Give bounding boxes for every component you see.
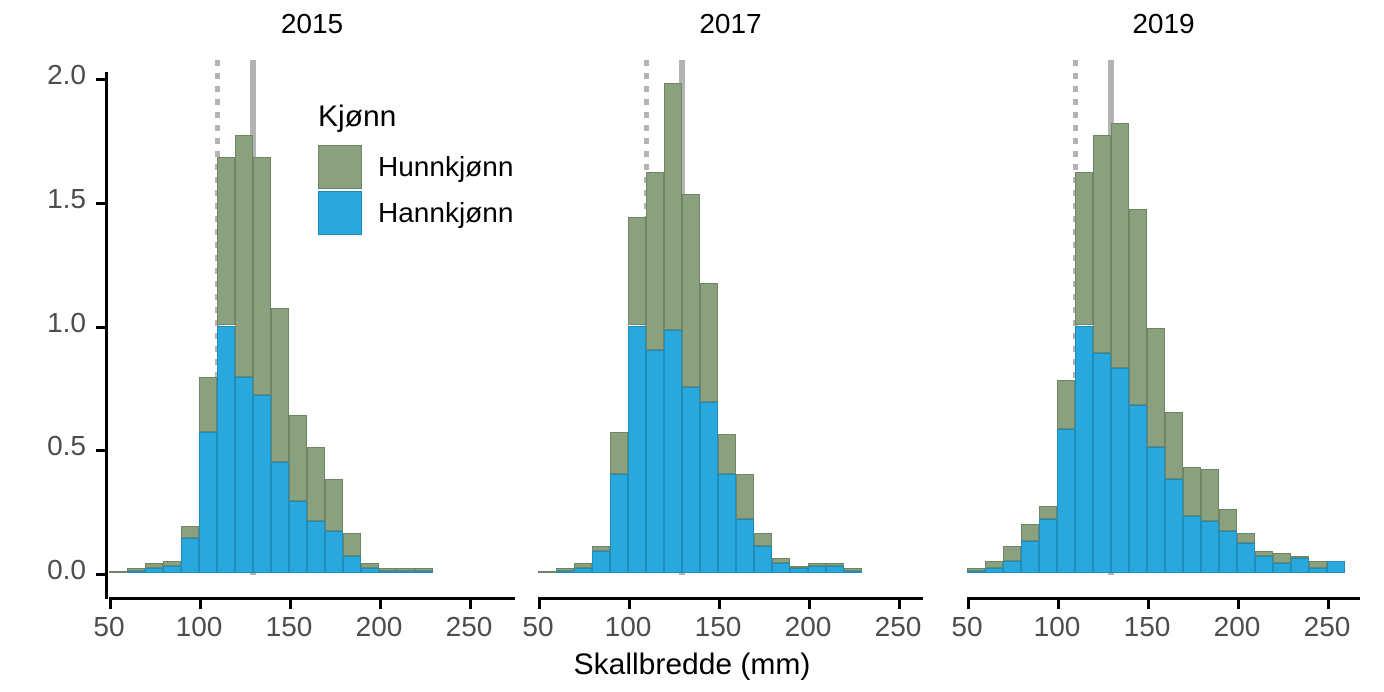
bar-male-2019-235 [1291, 558, 1309, 573]
bar-male-2017-215 [826, 566, 844, 573]
bar-male-2019-185 [1201, 521, 1219, 573]
bar-female-2017-125 [664, 83, 682, 331]
bar-female-2017-215 [826, 563, 844, 565]
bar-female-2015-135 [253, 157, 271, 395]
bar-male-2015-215 [397, 571, 415, 573]
panel-title-2015: 2015 [109, 8, 515, 40]
bar-female-2017-165 [736, 474, 754, 519]
bar-female-2017-145 [700, 283, 718, 402]
x-tick-2019-100 [1057, 600, 1060, 609]
bar-female-2015-125 [235, 135, 253, 378]
y-tick-1.5 [96, 202, 105, 205]
plot-area-2017 [538, 60, 923, 575]
bar-male-2017-195 [790, 568, 808, 573]
legend-items: HunnkjønnHannkjønn [318, 144, 513, 236]
x-axis-line-2017 [538, 597, 923, 600]
x-tick-label-2015-50: 50 [64, 611, 154, 643]
legend-item-male[interactable]: Hannkjønn [318, 190, 513, 236]
y-tick-0.5 [96, 449, 105, 452]
bar-male-2017-145 [700, 402, 718, 573]
legend-label-male: Hannkjønn [378, 197, 513, 229]
bar-male-2019-75 [1003, 561, 1021, 573]
bar-male-2015-85 [163, 566, 181, 573]
bar-male-2019-85 [1021, 541, 1039, 573]
bar-male-2015-105 [199, 432, 217, 573]
bar-female-2015-185 [343, 533, 361, 555]
bar-female-2015-195 [361, 563, 379, 568]
bar-male-2017-105 [628, 326, 646, 574]
x-tick-2019-150 [1147, 600, 1150, 609]
bar-male-2019-95 [1039, 519, 1057, 573]
bar-female-2019-235 [1291, 556, 1309, 558]
bar-male-2017-75 [574, 568, 592, 573]
bar-female-2017-85 [592, 546, 610, 551]
x-tick-2017-200 [808, 600, 811, 609]
x-axis-line-2015 [109, 597, 515, 600]
panel-2017: 201750100150200250 [538, 60, 923, 575]
bar-male-2017-205 [808, 566, 826, 573]
bar-male-2019-175 [1183, 516, 1201, 573]
bar-male-2015-135 [253, 395, 271, 573]
bar-female-2017-55 [538, 571, 556, 573]
legend-swatch-female-icon [318, 145, 362, 189]
bar-female-2015-155 [289, 415, 307, 502]
bar-female-2019-55 [967, 568, 985, 570]
bar-female-2015-75 [145, 563, 163, 568]
y-tick-2.0 [96, 78, 105, 81]
bar-male-2015-205 [379, 571, 397, 573]
bar-male-2019-125 [1093, 353, 1111, 573]
x-tick-label-2019-200: 200 [1192, 611, 1282, 643]
x-tick-2019-250 [1327, 600, 1330, 609]
bar-male-2019-165 [1165, 479, 1183, 573]
bar-male-2019-255 [1327, 561, 1345, 573]
x-tick-label-2015-100: 100 [154, 611, 244, 643]
x-tick-label-2015-200: 200 [334, 611, 424, 643]
bar-male-2015-185 [343, 556, 361, 573]
bar-female-2019-105 [1057, 380, 1075, 430]
bar-female-2015-95 [181, 526, 199, 538]
x-tick-label-2019-100: 100 [1012, 611, 1102, 643]
x-tick-label-2019-50: 50 [922, 611, 1012, 643]
bar-female-2019-195 [1219, 509, 1237, 531]
x-axis-line-2019 [967, 597, 1360, 600]
bar-female-2015-215 [397, 568, 415, 570]
bar-male-2015-155 [289, 501, 307, 573]
bar-male-2017-185 [772, 563, 790, 573]
x-tick-label-2019-250: 250 [1282, 611, 1372, 643]
bar-male-2017-115 [646, 350, 664, 573]
bar-male-2017-85 [592, 551, 610, 573]
bar-male-2019-115 [1075, 326, 1093, 574]
y-tick-label-0.5: 0.5 [0, 430, 86, 462]
legend-title: Kjønn [318, 100, 513, 134]
x-tick-label-2019-150: 150 [1102, 611, 1192, 643]
bar-female-2019-175 [1183, 467, 1201, 517]
legend-item-female[interactable]: Hunnkjønn [318, 144, 513, 190]
bar-male-2015-95 [181, 538, 199, 573]
bar-female-2017-65 [556, 568, 574, 570]
bar-male-2019-105 [1057, 429, 1075, 573]
x-tick-2015-100 [199, 600, 202, 609]
x-tick-2015-150 [289, 600, 292, 609]
bar-male-2017-225 [844, 571, 862, 573]
bar-female-2019-75 [1003, 546, 1021, 561]
bar-male-2015-145 [271, 462, 289, 573]
bar-female-2019-145 [1129, 209, 1147, 405]
x-tick-label-2017-50: 50 [493, 611, 583, 643]
bar-female-2017-115 [646, 172, 664, 350]
x-tick-label-2017-150: 150 [673, 611, 763, 643]
x-tick-2015-250 [469, 600, 472, 609]
bar-female-2019-135 [1111, 123, 1129, 368]
x-tick-2017-100 [628, 600, 631, 609]
x-tick-2019-200 [1237, 600, 1240, 609]
plot-area-2019 [967, 60, 1360, 575]
y-tick-label-1.0: 1.0 [0, 307, 86, 339]
bar-male-2015-125 [235, 377, 253, 573]
y-axis-line [105, 72, 108, 599]
bar-male-2019-195 [1219, 531, 1237, 573]
panel-title-2017: 2017 [538, 8, 923, 40]
bar-female-2017-205 [808, 563, 826, 565]
bar-female-2017-105 [628, 217, 646, 326]
bar-female-2015-175 [325, 479, 343, 531]
bar-female-2015-225 [415, 568, 433, 570]
bar-male-2017-155 [718, 474, 736, 573]
bar-male-2019-155 [1147, 447, 1165, 573]
bar-female-2017-135 [682, 194, 700, 387]
bar-male-2019-145 [1129, 405, 1147, 573]
bar-female-2017-155 [718, 434, 736, 474]
bar-male-2017-135 [682, 387, 700, 573]
bar-female-2015-145 [271, 308, 289, 461]
bar-female-2015-115 [217, 157, 235, 325]
bar-male-2015-225 [415, 571, 433, 573]
bar-male-2019-225 [1273, 563, 1291, 573]
chart-root: Andel i fangst (%) Skallbredde (mm) 2015… [0, 0, 1384, 692]
bar-female-2017-195 [790, 566, 808, 568]
legend-swatch-male-icon [318, 191, 362, 235]
bar-female-2019-165 [1165, 412, 1183, 479]
y-tick-0.0 [96, 573, 105, 576]
bar-female-2019-185 [1201, 469, 1219, 521]
x-tick-label-2017-200: 200 [763, 611, 853, 643]
bar-female-2017-75 [574, 563, 592, 568]
x-tick-label-2015-150: 150 [244, 611, 334, 643]
bar-male-2015-195 [361, 568, 379, 573]
bar-female-2017-95 [610, 432, 628, 474]
bar-female-2015-65 [127, 568, 145, 570]
bar-female-2019-85 [1021, 524, 1039, 541]
bar-female-2019-215 [1255, 551, 1273, 556]
bar-female-2017-185 [772, 558, 790, 563]
bar-female-2015-205 [379, 568, 397, 570]
bar-female-2019-155 [1147, 328, 1165, 447]
bar-male-2019-205 [1237, 543, 1255, 573]
y-tick-label-1.5: 1.5 [0, 183, 86, 215]
bar-female-2019-95 [1039, 506, 1057, 518]
bar-male-2017-95 [610, 474, 628, 573]
legend: Kjønn HunnkjønnHannkjønn [318, 100, 513, 236]
legend-label-female: Hunnkjønn [378, 151, 513, 183]
x-tick-2019-50 [967, 600, 970, 609]
bar-male-2019-55 [967, 571, 985, 573]
bar-female-2019-225 [1273, 553, 1291, 563]
bar-male-2019-135 [1111, 368, 1129, 573]
bar-male-2015-165 [307, 521, 325, 573]
bar-male-2017-125 [664, 330, 682, 573]
bar-male-2019-245 [1309, 568, 1327, 573]
bar-female-2019-205 [1237, 533, 1255, 543]
bar-female-2019-115 [1075, 172, 1093, 325]
bar-female-2017-225 [844, 568, 862, 570]
bar-male-2017-165 [736, 519, 754, 573]
bar-female-2019-245 [1309, 561, 1327, 568]
bar-male-2017-175 [754, 546, 772, 573]
bar-female-2019-65 [985, 561, 1003, 568]
bar-female-2015-105 [199, 377, 217, 431]
x-tick-2015-200 [379, 600, 382, 609]
bar-female-2017-175 [754, 533, 772, 545]
y-tick-label-0.0: 0.0 [0, 554, 86, 586]
x-axis-title: Skallbredde (mm) [0, 648, 1384, 682]
x-tick-2015-50 [109, 600, 112, 609]
bar-male-2015-175 [325, 531, 343, 573]
x-tick-2017-150 [718, 600, 721, 609]
y-tick-1.0 [96, 326, 105, 329]
bar-female-2015-55 [109, 571, 127, 573]
panel-2019: 201950100150200250 [967, 60, 1360, 575]
bar-female-2019-125 [1093, 135, 1111, 353]
bar-male-2017-65 [556, 571, 574, 573]
bar-male-2019-65 [985, 568, 1003, 573]
x-tick-2017-50 [538, 600, 541, 609]
bar-male-2015-75 [145, 568, 163, 573]
y-tick-label-2.0: 2.0 [0, 59, 86, 91]
panel-title-2019: 2019 [967, 8, 1360, 40]
bar-male-2019-215 [1255, 556, 1273, 573]
bar-female-2015-85 [163, 561, 181, 566]
bar-male-2015-115 [217, 326, 235, 574]
bar-female-2015-165 [307, 447, 325, 521]
x-tick-2017-250 [898, 600, 901, 609]
x-tick-label-2017-100: 100 [583, 611, 673, 643]
bar-male-2015-65 [127, 571, 145, 573]
